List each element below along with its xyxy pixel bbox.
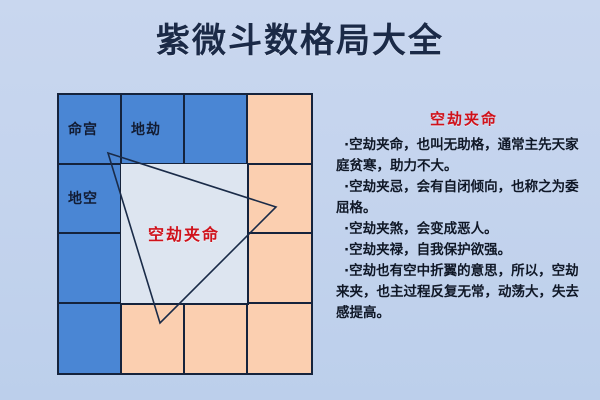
center-cell-label: 空劫夹命 xyxy=(148,221,220,245)
grid-cell-label: 命宫 xyxy=(68,119,98,139)
panel-body: ·空劫夹命，也叫无助格，通常主先天家庭贫寒，助力不大。·空劫夹忌，会有自闭倾向，… xyxy=(336,135,592,324)
grid-cell-r4-c3[interactable] xyxy=(185,304,248,374)
panel-paragraph: ·空劫夹煞，会变成恶人。 xyxy=(336,219,592,240)
grid-cell-r3-c4[interactable] xyxy=(248,234,311,304)
grid-cell-label: 地劫 xyxy=(131,119,161,139)
panel-paragraph: ·空劫夹命，也叫无助格，通常主先天家庭贫寒，助力不大。 xyxy=(336,135,592,177)
panel-paragraph: ·空劫夹忌，会有自闭倾向，也称之为委屈格。 xyxy=(336,177,592,219)
grid-cell-r4-c4[interactable] xyxy=(248,304,311,374)
description-panel: 空劫夹命 ·空劫夹命，也叫无助格，通常主先天家庭贫寒，助力不大。·空劫夹忌，会有… xyxy=(336,108,592,324)
grid-cell-r1-c3[interactable] xyxy=(185,95,248,165)
astrology-grid: 命宫地劫地空 空劫夹命 xyxy=(57,93,313,375)
panel-heading: 空劫夹命 xyxy=(336,108,592,129)
grid-cell-label: 地空 xyxy=(68,188,98,208)
slide-canvas: 紫微斗数格局大全 命宫地劫地空 空劫夹命 空劫夹命 ·空劫夹命，也叫无助格，通常… xyxy=(0,0,600,400)
grid-cell-r1-c4[interactable] xyxy=(248,95,311,165)
grid-cell-r4-c1[interactable] xyxy=(59,304,122,374)
grid-cell-r4-c2[interactable] xyxy=(122,304,185,374)
grid-cell-r3-c1[interactable] xyxy=(59,234,122,304)
grid-cell-r1-c2[interactable]: 地劫 xyxy=(122,95,185,165)
center-merged-cell: 空劫夹命 xyxy=(121,164,249,305)
grid-cell-r2-c1[interactable]: 地空 xyxy=(59,165,122,235)
grid-cell-r2-c4[interactable] xyxy=(248,165,311,235)
grid-cell-r1-c1[interactable]: 命宫 xyxy=(59,95,122,165)
panel-paragraph: ·空劫夹禄，自我保护欲强。 xyxy=(336,240,592,261)
panel-paragraph: ·空劫也有空中折翼的意思，所以，空劫来夹，也主过程反复无常，动荡大，失去感提高。 xyxy=(336,261,592,324)
page-title: 紫微斗数格局大全 xyxy=(0,18,600,64)
